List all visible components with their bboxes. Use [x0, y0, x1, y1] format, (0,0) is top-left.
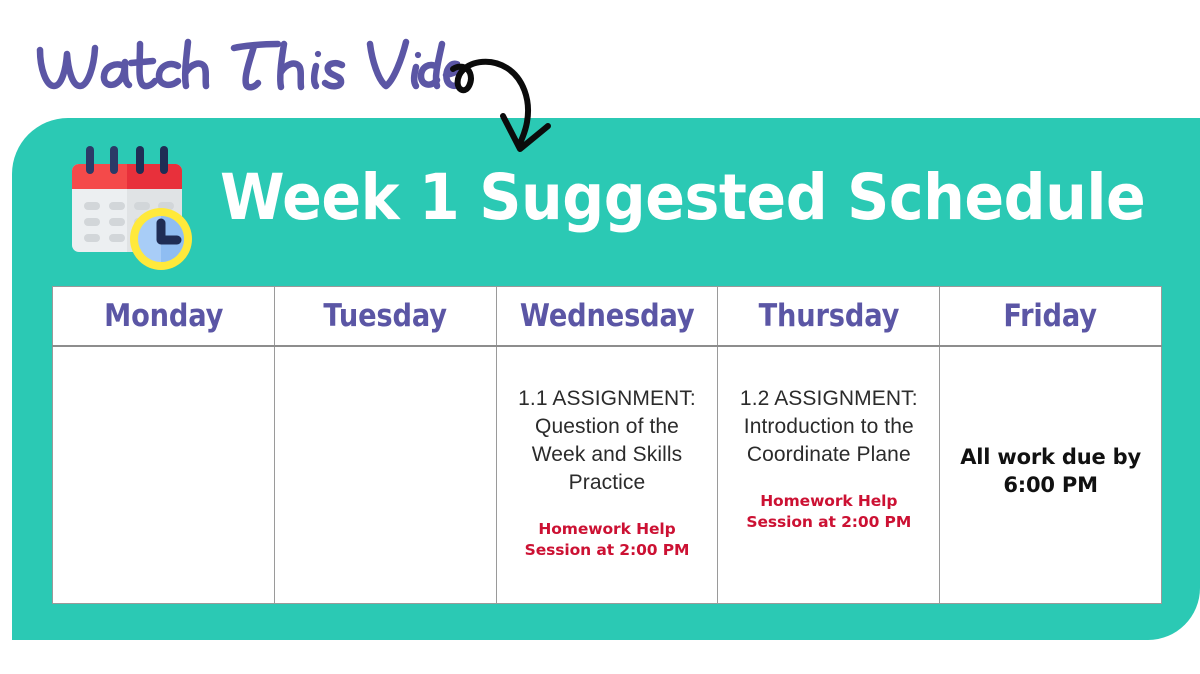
cell-content-wednesday: 1.1 ASSIGNMENT: Question of the Week and…: [497, 347, 718, 603]
watch-this-video-script: [30, 34, 460, 104]
cell-content-thursday: 1.2 ASSIGNMENT: Introduction to the Coor…: [718, 347, 939, 603]
assignment-text: 1.2 ASSIGNMENT: Introduction to the Coor…: [728, 385, 929, 469]
calendar-clock-icon: [58, 140, 208, 276]
table-row: 1.1 ASSIGNMENT: Question of the Week and…: [53, 346, 1162, 604]
column-header-wednesday: Wednesday: [496, 287, 718, 347]
cell-monday: [53, 346, 275, 604]
cell-content-tuesday: [275, 347, 496, 603]
page-title: Week 1 Suggested Schedule: [220, 166, 1145, 229]
column-header-friday: Friday: [940, 287, 1162, 347]
cell-content-monday: [53, 347, 274, 603]
column-header-thursday: Thursday: [718, 287, 940, 347]
cell-thursday: 1.2 ASSIGNMENT: Introduction to the Coor…: [718, 346, 940, 604]
day-label: Monday: [104, 298, 223, 334]
cell-content-friday: All work due by 6:00 PM: [940, 347, 1161, 603]
table-header-row: Monday Tuesday Wednesday Thursday Friday: [53, 287, 1162, 347]
due-time-note: All work due by 6:00 PM: [950, 443, 1151, 500]
weekly-schedule-table: Monday Tuesday Wednesday Thursday Friday: [52, 286, 1162, 604]
curved-down-arrow-icon: [445, 52, 575, 162]
arrow-svg: [445, 52, 575, 162]
schedule-panel: Week 1 Suggested Schedule Monday Tuesday…: [12, 118, 1200, 640]
homework-help-note: Homework Help Session at 2:00 PM: [507, 519, 708, 561]
day-label: Thursday: [758, 298, 899, 334]
cell-wednesday: 1.1 ASSIGNMENT: Question of the Week and…: [496, 346, 718, 604]
cell-tuesday: [274, 346, 496, 604]
table-body: 1.1 ASSIGNMENT: Question of the Week and…: [53, 346, 1162, 604]
watch-this-video-note: [30, 34, 460, 104]
cell-friday: All work due by 6:00 PM: [940, 346, 1162, 604]
column-header-monday: Monday: [53, 287, 275, 347]
day-label: Tuesday: [323, 298, 446, 334]
day-label: Wednesday: [520, 298, 695, 334]
column-header-tuesday: Tuesday: [274, 287, 496, 347]
homework-help-note: Homework Help Session at 2:00 PM: [728, 491, 929, 533]
day-label: Friday: [1004, 298, 1098, 334]
table-row: Monday Tuesday Wednesday Thursday Friday: [53, 287, 1162, 347]
assignment-text: 1.1 ASSIGNMENT: Question of the Week and…: [507, 385, 708, 497]
calendar-icon-svg: [58, 140, 208, 276]
